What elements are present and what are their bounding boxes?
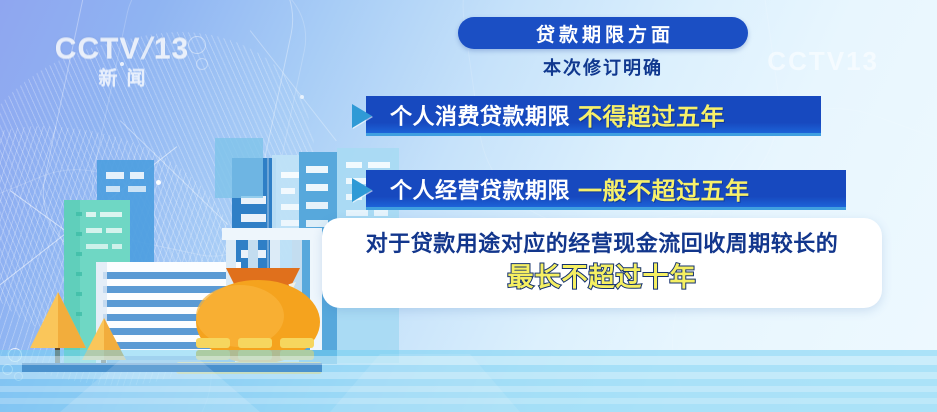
callout-line-1: 对于贷款用途对应的经营现金流回收周期较长的 bbox=[322, 229, 882, 259]
bullet-label: 个人经营贷款期限 bbox=[390, 173, 570, 205]
page-subtitle: 本次修订明确 bbox=[458, 54, 748, 80]
triangle-arrow-icon bbox=[352, 178, 372, 202]
building bbox=[215, 138, 263, 198]
triangle-arrow-icon bbox=[352, 104, 372, 128]
bullet-banner: 个人消费贷款期限 不得超过五年 bbox=[366, 96, 821, 136]
bullet-highlight: 一般不超过五年 bbox=[578, 171, 750, 206]
section-title-pill: 贷款期限方面 bbox=[458, 17, 748, 49]
content-column: 贷款期限方面 本次修订明确 个人消费贷款期限 不得超过五年 个人经营贷款期限 一… bbox=[330, 0, 937, 412]
bullet-highlight: 不得超过五年 bbox=[578, 97, 725, 132]
bullet-label: 个人消费贷款期限 bbox=[390, 99, 570, 131]
broadcast-graphic-screen: CCTV/13 新闻 CCTV13 bbox=[0, 0, 937, 412]
bullet-banner: 个人经营贷款期限 一般不超过五年 bbox=[366, 170, 846, 210]
callout-line-2: 最长不超过十年 bbox=[322, 259, 882, 295]
callout-box: 对于贷款用途对应的经营现金流回收周期较长的 最长不超过十年 bbox=[322, 218, 882, 308]
page-title: 贷款期限方面 bbox=[532, 20, 674, 47]
